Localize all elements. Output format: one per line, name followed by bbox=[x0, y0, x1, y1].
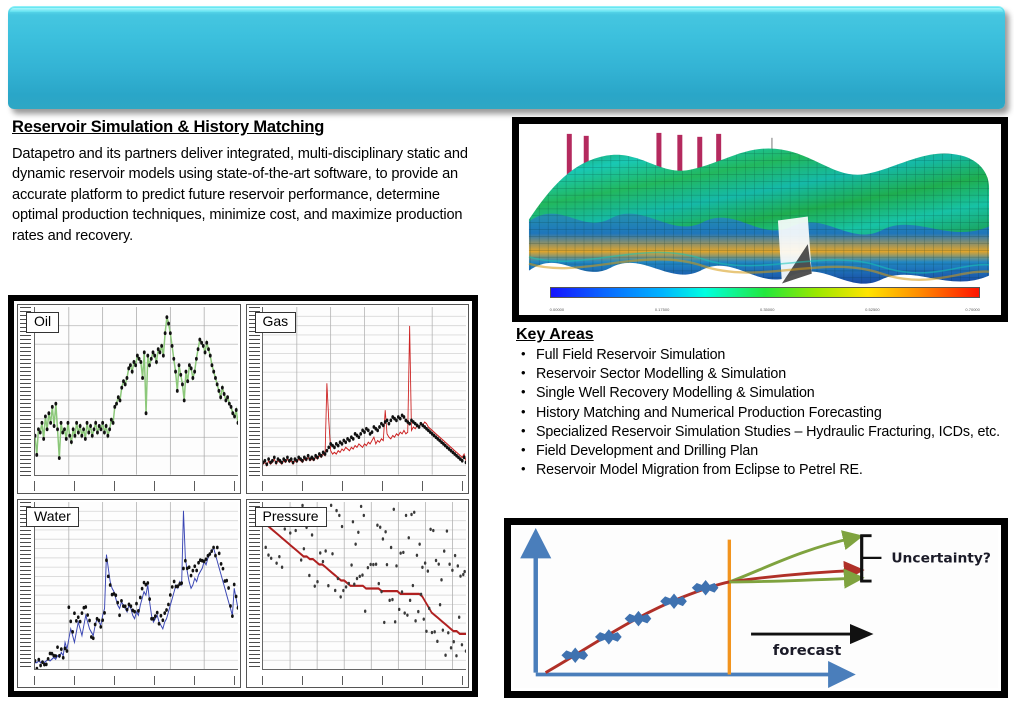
history-match-charts: Oil bbox=[8, 295, 478, 697]
colorbar-label-2: 0.35000 bbox=[760, 307, 774, 312]
chart-panel-pressure: Pressure bbox=[246, 499, 470, 689]
key-areas-section: Key Areas Full Field Reservoir Simulatio… bbox=[516, 326, 1008, 481]
chart-panel-oil: Oil bbox=[17, 304, 241, 494]
intro-paragraph: Datapetro and its partners deliver integ… bbox=[12, 144, 478, 246]
page-title: Reservoir Simulation & History Matching bbox=[12, 118, 478, 137]
oil-chart-svg bbox=[35, 307, 238, 475]
water-x-axis-ticks bbox=[34, 676, 238, 685]
colorbar-label-0: 0.00000 bbox=[550, 307, 564, 312]
colorbar-label-4: 0.70000 bbox=[965, 307, 979, 312]
reservoir-3d-model: Prod Well-1 Prod-8 0.00000 0.17500 0.350… bbox=[512, 117, 1008, 322]
key-areas-title: Key Areas bbox=[516, 326, 1008, 344]
model-colorbar bbox=[550, 287, 980, 298]
pressure-x-axis-ticks bbox=[262, 676, 466, 685]
water-panel-label: Water bbox=[26, 507, 79, 528]
header-banner bbox=[8, 6, 1005, 109]
reservoir-model-svg: Prod Well-1 Prod-8 bbox=[521, 126, 999, 313]
pressure-panel-label: Pressure bbox=[255, 507, 327, 528]
intro-section: Reservoir Simulation & History Matching … bbox=[12, 118, 478, 246]
colorbar-label-3: 0.52500 bbox=[865, 307, 879, 312]
forecast-svg: Uncertainty? forecast bbox=[514, 528, 998, 688]
forecast-label: forecast bbox=[773, 642, 842, 659]
banner-highlight bbox=[10, 8, 1003, 12]
chart-panel-water: Water bbox=[17, 499, 241, 689]
list-item: Single Well Recovery Modelling & Simulat… bbox=[516, 384, 1008, 403]
gas-panel-label: Gas bbox=[255, 312, 297, 333]
forecast-uncertainty-diagram: Uncertainty? forecast bbox=[504, 518, 1008, 698]
oil-x-axis-ticks bbox=[34, 481, 238, 490]
colorbar-label-1: 0.17500 bbox=[655, 307, 669, 312]
list-item: Reservoir Sector Modelling & Simulation bbox=[516, 365, 1008, 384]
list-item: Field Development and Drilling Plan bbox=[516, 442, 1008, 461]
list-item: Full Field Reservoir Simulation bbox=[516, 346, 1008, 365]
oil-panel-label: Oil bbox=[26, 312, 59, 333]
uncertainty-label: Uncertainty? bbox=[891, 551, 991, 567]
oil-plot-area bbox=[34, 307, 238, 476]
list-item: Specialized Reservoir Simulation Studies… bbox=[516, 423, 1008, 442]
chart-panel-gas: Gas bbox=[246, 304, 470, 494]
gas-x-axis-ticks bbox=[262, 481, 466, 490]
key-areas-list: Full Field Reservoir Simulation Reservoi… bbox=[516, 346, 1008, 481]
list-item: Reservoir Model Migration from Eclipse t… bbox=[516, 461, 1008, 480]
list-item: History Matching and Numerical Productio… bbox=[516, 404, 1008, 423]
